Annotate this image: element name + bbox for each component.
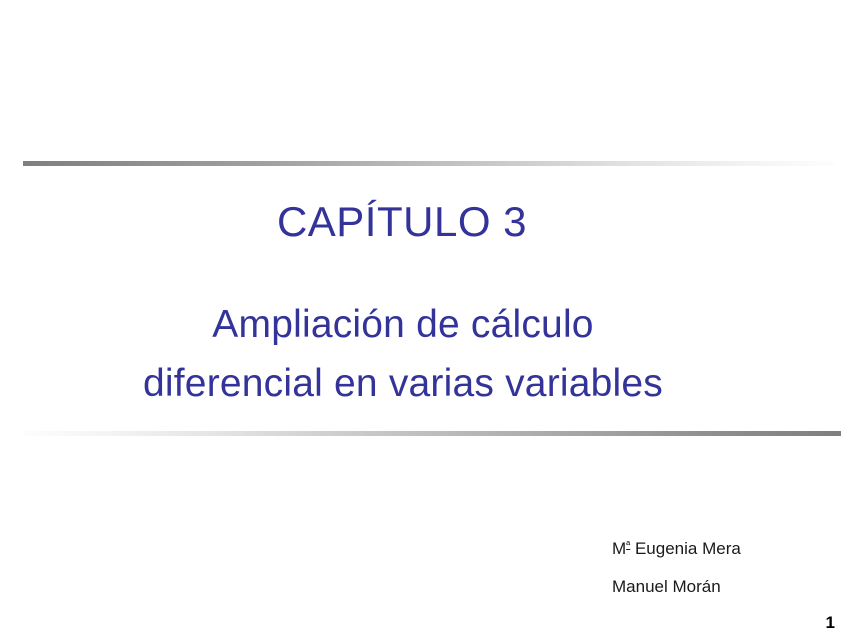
- page-title: CAPÍTULO 3: [0, 200, 804, 244]
- author-name-primary: Mª Eugenia Mera: [612, 540, 741, 557]
- subtitle-line-1: Ampliación de cálculo: [0, 295, 806, 354]
- subtitle-block: Ampliación de cálculo diferencial en var…: [0, 295, 806, 414]
- author-name-prefix: M: [612, 539, 626, 558]
- author-name-rest: Eugenia Mera: [630, 539, 741, 558]
- subtitle-line-2: diferencial en varias variables: [0, 354, 806, 413]
- author-list: Mª Eugenia Mera Manuel Morán: [612, 540, 741, 595]
- bottom-divider-rule: [23, 431, 841, 436]
- title-block: CAPÍTULO 3: [0, 200, 804, 244]
- page-number: 1: [826, 614, 835, 631]
- top-divider-rule: [23, 161, 835, 166]
- author-name-secondary: Manuel Morán: [612, 578, 741, 595]
- slide-canvas: CAPÍTULO 3 Ampliación de cálculo diferen…: [0, 0, 848, 636]
